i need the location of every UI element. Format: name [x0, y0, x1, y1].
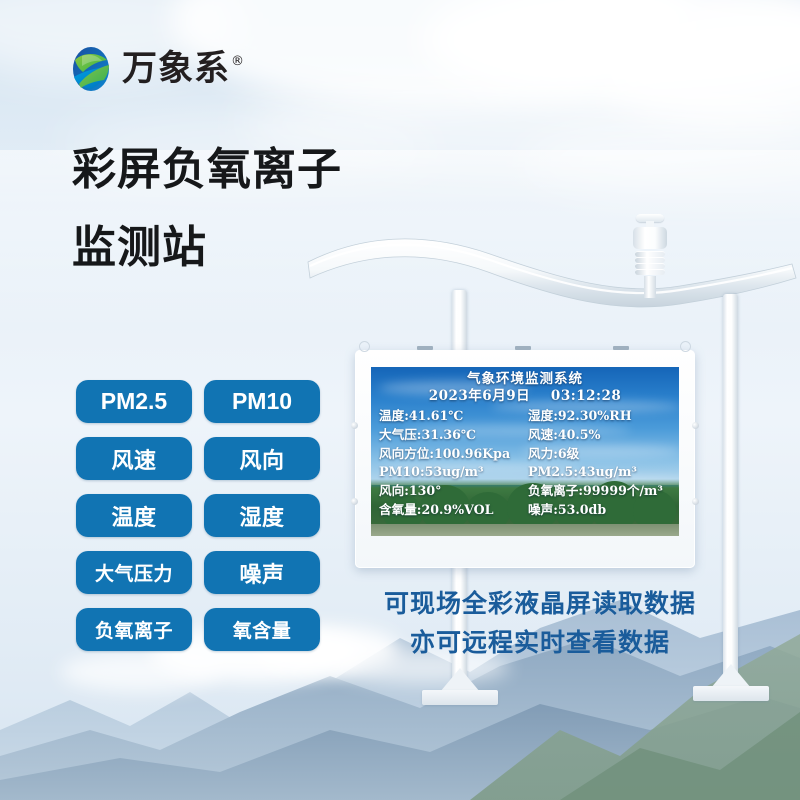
feature-caption: 可现场全彩液晶屏读取数据 亦可远程实时查看数据	[380, 585, 700, 663]
reading-row: PM10:53ug/m³ PM2.5:43ug/m³	[379, 463, 671, 482]
weather-sensor-icon	[630, 214, 670, 290]
mount-tab	[515, 346, 531, 350]
sensor-mast	[644, 276, 656, 298]
hanger-hook-right	[680, 341, 691, 352]
sensor-fin	[635, 269, 665, 275]
reading-wind-speed: 风速:40.5%	[522, 426, 671, 445]
pill-anion[interactable]: 负氧离子	[76, 608, 192, 651]
caption-line-1: 可现场全彩液晶屏读取数据	[380, 585, 700, 624]
reading-anion: 负氧离子:99999个/m³	[522, 482, 671, 501]
reading-oxygen: 含氧量:20.9%VOL	[379, 501, 522, 520]
display-board[interactable]: 气象环境监测系统 2023年6月9日 03:12:28 温度:41.61℃ 湿度…	[355, 350, 695, 568]
screen-reading-list: 温度:41.61℃ 湿度:92.30%RH 大气压:31.36℃ 风速:40.5…	[379, 407, 671, 519]
caption-line-2: 亦可远程实时查看数据	[380, 624, 700, 663]
headline-line-1: 彩屏负氧离子	[72, 148, 492, 192]
reading-temperature: 温度:41.61℃	[379, 407, 522, 426]
reading-pm25: PM2.5:43ug/m³	[522, 463, 671, 482]
sensor-body	[633, 227, 667, 249]
pill-pressure[interactable]: 大气压力	[76, 551, 192, 594]
frame-bolt	[692, 422, 699, 429]
pill-wind-speed[interactable]: 风速	[76, 437, 192, 480]
brand-logo: 万象系 ®	[68, 44, 244, 94]
screen-title: 气象环境监测系统	[379, 371, 671, 388]
frame-bolt	[351, 498, 358, 505]
reading-wind-direction: 风向:130°	[379, 482, 522, 501]
feature-pill-grid: PM2.5 PM10 风速 风向 温度 湿度 大气压力 噪声 负氧离子 氧含量	[76, 380, 320, 651]
reading-pm10: PM10:53ug/m³	[379, 463, 522, 482]
reading-row: 风向方位:100.96Kpa 风力:6级	[379, 445, 671, 464]
screen-date: 2023年6月9日	[429, 388, 530, 404]
hanger-hook-left	[359, 341, 370, 352]
reading-noise: 噪声:53.0db	[522, 501, 671, 520]
reading-wind-bearing: 风向方位:100.96Kpa	[379, 445, 522, 464]
post-base-left	[440, 668, 480, 692]
screen-datetime: 2023年6月9日 03:12:28	[379, 388, 671, 406]
pill-pm25[interactable]: PM2.5	[76, 380, 192, 423]
lcd-screen[interactable]: 气象环境监测系统 2023年6月9日 03:12:28 温度:41.61℃ 湿度…	[371, 367, 679, 536]
reading-humidity: 湿度:92.30%RH	[522, 407, 671, 426]
brand-name: 万象系	[122, 52, 230, 87]
frame-bolt	[692, 498, 699, 505]
reading-wind-force: 风力:6级	[522, 445, 671, 464]
frame-bolt	[351, 422, 358, 429]
reading-row: 温度:41.61℃ 湿度:92.30%RH	[379, 407, 671, 426]
pill-temperature[interactable]: 温度	[76, 494, 192, 537]
globe-swirl-logo-icon	[68, 44, 114, 94]
reading-row: 含氧量:20.9%VOL 噪声:53.0db	[379, 501, 671, 520]
post-base-right	[711, 664, 751, 688]
screen-readout: 气象环境监测系统 2023年6月9日 03:12:28 温度:41.61℃ 湿度…	[371, 367, 679, 536]
support-post-right	[723, 294, 738, 694]
post-foot-left	[422, 690, 498, 705]
screen-time: 03:12:28	[551, 388, 621, 404]
mount-tab	[613, 346, 629, 350]
reading-row: 大气压:31.36℃ 风速:40.5%	[379, 426, 671, 445]
product-poster: 万象系 ® 彩屏负氧离子 监测站 PM2.5 PM10 风速 风向 温度 湿度 …	[0, 0, 800, 800]
reading-pressure: 大气压:31.36℃	[379, 426, 522, 445]
post-foot-right	[693, 686, 769, 701]
reading-row: 风向:130° 负氧离子:99999个/m³	[379, 482, 671, 501]
trademark-symbol: ®	[231, 54, 244, 69]
brand-name-wrap: 万象系 ®	[122, 52, 244, 87]
mount-tab	[417, 346, 433, 350]
